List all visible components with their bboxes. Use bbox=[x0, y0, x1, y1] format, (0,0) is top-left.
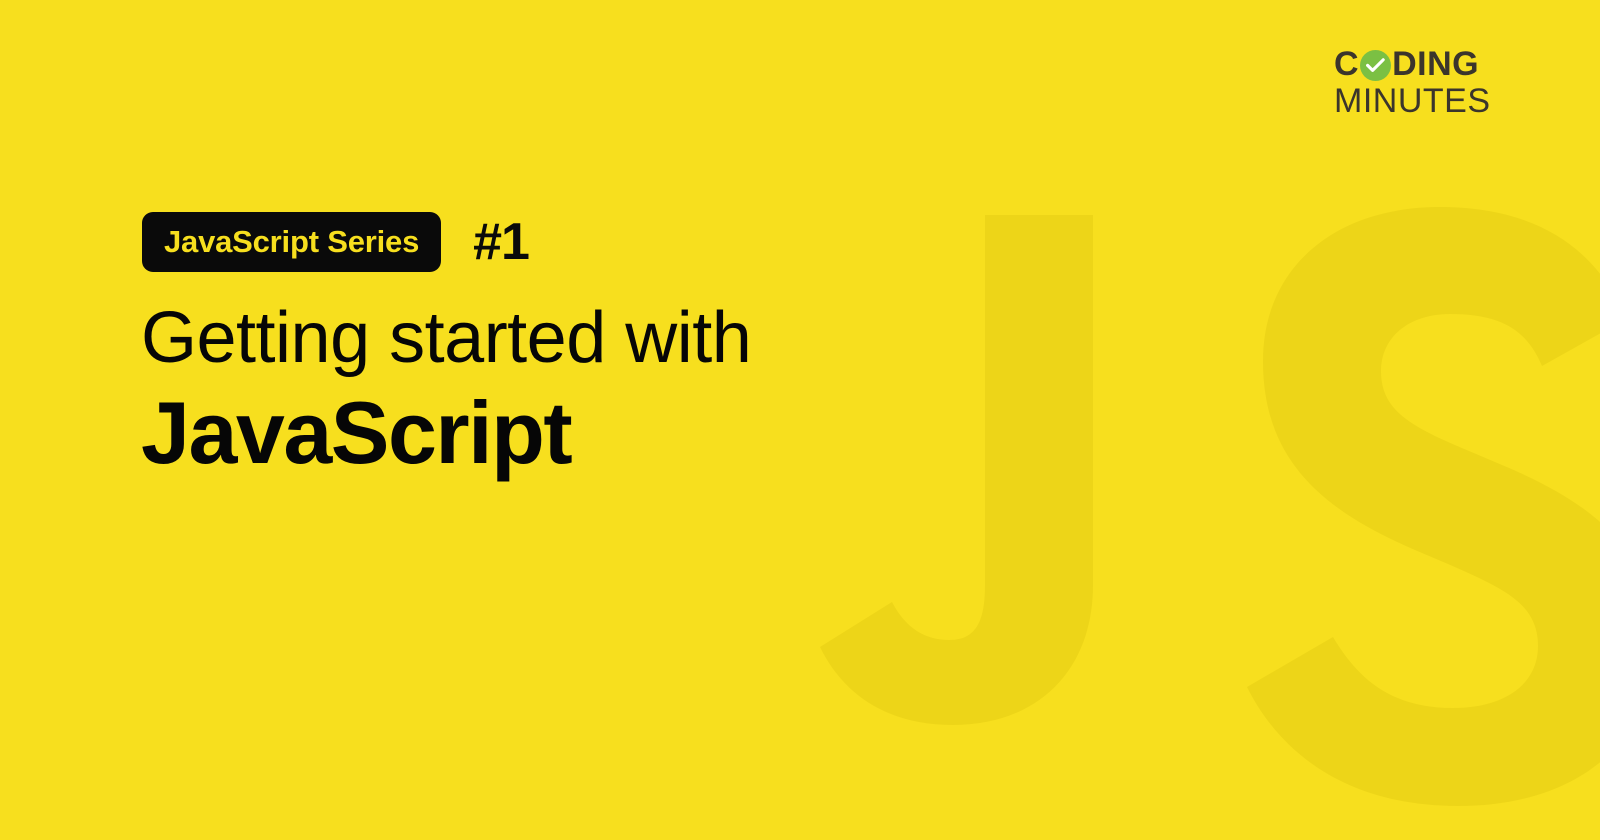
headline-line-two: JavaScript bbox=[141, 384, 981, 483]
logo-text-ding: DING bbox=[1392, 47, 1479, 81]
logo-text-c: C bbox=[1334, 47, 1359, 81]
series-row: JavaScript Series #1 bbox=[142, 212, 529, 272]
coding-minutes-logo: C DING MINUTES bbox=[1334, 44, 1512, 120]
check-circle-icon bbox=[1360, 50, 1391, 81]
episode-number: #1 bbox=[473, 216, 529, 268]
js-watermark bbox=[740, 150, 1600, 840]
logo-line-coding: C DING bbox=[1334, 44, 1512, 84]
slide-canvas: C DING MINUTES JavaScript Series #1 Gett… bbox=[0, 0, 1600, 840]
headline: Getting started with JavaScript bbox=[141, 300, 981, 482]
series-badge: JavaScript Series bbox=[142, 212, 441, 272]
logo-line-minutes: MINUTES bbox=[1334, 82, 1512, 120]
headline-line-one: Getting started with bbox=[141, 300, 981, 378]
watermark-letter-s bbox=[1247, 207, 1600, 806]
